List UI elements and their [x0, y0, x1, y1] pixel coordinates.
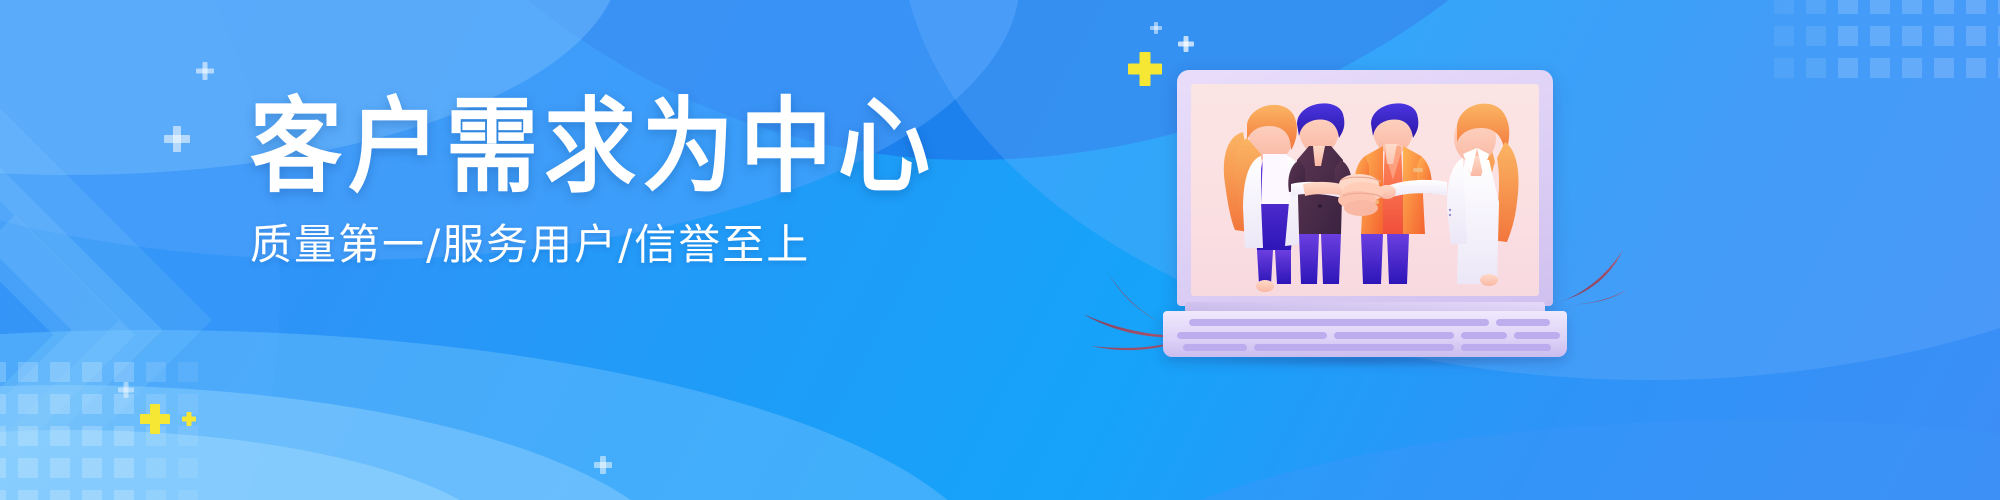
- laptop-base: [1155, 302, 1575, 360]
- laptop-illustration: [1155, 70, 1575, 360]
- banner-text-block: 客户需求为中心 质量第一/服务用户/信誉至上: [250, 96, 890, 266]
- plus-white-d-icon: [594, 456, 612, 474]
- promo-banner: 客户需求为中心 质量第一/服务用户/信誉至上: [0, 0, 2000, 500]
- banner-headline: 客户需求为中心: [250, 96, 890, 199]
- wave-right-bottom: [1050, 420, 2000, 500]
- plus-white-b-icon: [164, 126, 190, 152]
- square-grid-top-right: [1774, 0, 2000, 78]
- laptop-screen: [1191, 84, 1539, 296]
- laptop-keyboard-deck: [1163, 311, 1567, 357]
- team-handshake-illustration: [1191, 84, 1539, 296]
- plus-white-a-icon: [196, 62, 214, 80]
- keyboard-row-3[interactable]: [1183, 344, 1551, 351]
- joined-hands: [1338, 174, 1384, 216]
- plus-white-c-icon: [118, 382, 134, 398]
- keyboard-row-1[interactable]: [1189, 319, 1550, 326]
- plus-white-small-a-icon: [1178, 36, 1194, 52]
- leaf-cluster-right-icon: [1557, 248, 1627, 308]
- plus-white-small-b-icon: [1150, 22, 1162, 34]
- banner-subheadline: 质量第一/服务用户/信誉至上: [250, 224, 890, 266]
- plus-yellow-mid-icon: [140, 404, 170, 434]
- laptop-lid: [1177, 70, 1553, 306]
- plus-yellow-tiny-icon: [182, 412, 196, 426]
- keyboard-row-2[interactable]: [1177, 332, 1560, 339]
